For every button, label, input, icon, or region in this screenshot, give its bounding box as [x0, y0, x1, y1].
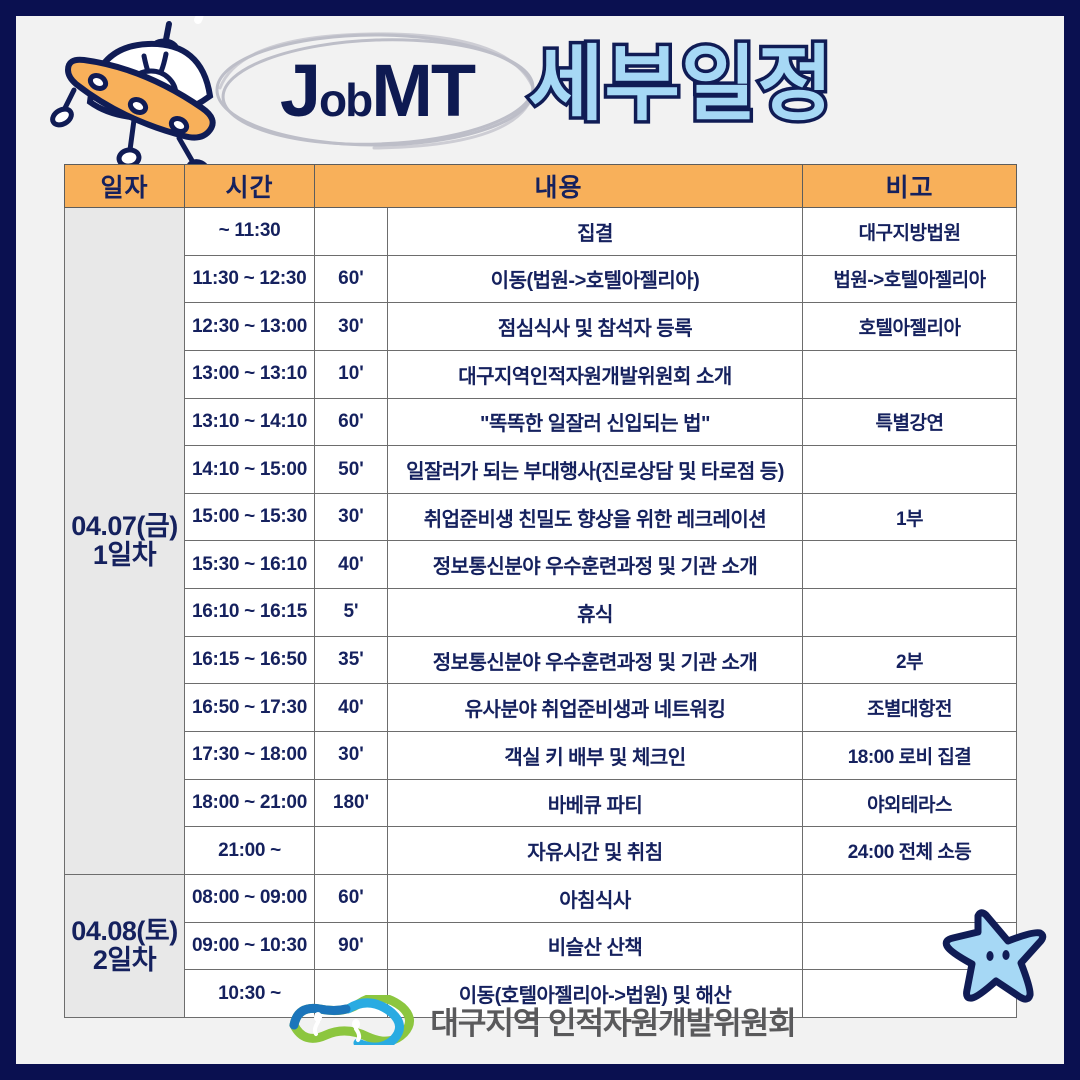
col-header-content: 내용 — [315, 165, 803, 208]
cell-dur: 180' — [315, 779, 388, 827]
cell-content: "똑똑한 일잘러 신입되는 법" — [388, 398, 803, 446]
cell-time: 15:30 ~ 16:10 — [185, 541, 315, 589]
cell-time: 18:00 ~ 21:00 — [185, 779, 315, 827]
cell-time: 09:00 ~ 10:30 — [185, 922, 315, 970]
cell-content: 집결 — [388, 208, 803, 256]
col-header-time: 시간 — [185, 165, 315, 208]
cell-content: 유사분야 취업준비생과 네트워킹 — [388, 684, 803, 732]
date-cell: 04.07(금)1일차 — [65, 208, 185, 875]
cell-time: 17:30 ~ 18:00 — [185, 732, 315, 780]
cell-time: 12:30 ~ 13:00 — [185, 303, 315, 351]
table-row: 16:50 ~ 17:3040'유사분야 취업준비생과 네트워킹조별대항전 — [65, 684, 1017, 732]
logo-letters-mt: MT — [371, 54, 474, 128]
cell-remark: 법원->호텔아젤리아 — [803, 255, 1017, 303]
cell-dur — [315, 827, 388, 875]
cell-content: 이동(법원->호텔아젤리아) — [388, 255, 803, 303]
cell-dur: 60' — [315, 398, 388, 446]
cell-time: 16:10 ~ 16:15 — [185, 589, 315, 637]
poster-header: JobMT 세부일정 — [16, 16, 1064, 164]
table-row: 16:10 ~ 16:155'휴식 — [65, 589, 1017, 637]
table-row: 04.08(토)2일차08:00 ~ 09:0060'아침식사 — [65, 874, 1017, 922]
cell-time: 13:10 ~ 14:10 — [185, 398, 315, 446]
cell-remark: 1부 — [803, 493, 1017, 541]
cell-remark — [803, 541, 1017, 589]
cell-dur: 5' — [315, 589, 388, 637]
cell-time: ~ 11:30 — [185, 208, 315, 256]
logo-letter-j: J — [280, 54, 319, 128]
table-row: 12:30 ~ 13:0030'점심식사 및 참석자 등록호텔아젤리아 — [65, 303, 1017, 351]
ufo-mascot-icon — [46, 16, 236, 178]
col-header-remark: 비고 — [803, 165, 1017, 208]
cell-remark — [803, 589, 1017, 637]
table-row: 18:00 ~ 21:00180'바베큐 파티야외테라스 — [65, 779, 1017, 827]
table-row: 15:30 ~ 16:1040'정보통신분야 우수훈련과정 및 기관 소개 — [65, 541, 1017, 589]
table-row: 11:30 ~ 12:3060'이동(법원->호텔아젤리아)법원->호텔아젤리아 — [65, 255, 1017, 303]
cell-dur: 50' — [315, 446, 388, 494]
infinity-swoosh-logo-icon — [284, 995, 416, 1045]
cell-time: 16:15 ~ 16:50 — [185, 636, 315, 684]
table-row: 13:10 ~ 14:1060'"똑똑한 일잘러 신입되는 법"특별강연 — [65, 398, 1017, 446]
cell-time: 13:00 ~ 13:10 — [185, 350, 315, 398]
table-row: 13:00 ~ 13:1010'대구지역인적자원개발위원회 소개 — [65, 350, 1017, 398]
cell-dur: 10' — [315, 350, 388, 398]
cell-content: 일잘러가 되는 부대행사(진로상담 및 타로점 등) — [388, 446, 803, 494]
schedule-table-body: 04.07(금)1일차~ 11:30집결대구지방법원11:30 ~ 12:306… — [65, 208, 1017, 1018]
cell-time: 16:50 ~ 17:30 — [185, 684, 315, 732]
table-row: 09:00 ~ 10:3090'비슬산 산책 — [65, 922, 1017, 970]
logo-letters-ob: ob — [319, 77, 371, 123]
cell-content: 정보통신분야 우수훈련과정 및 기관 소개 — [388, 541, 803, 589]
table-row: 14:10 ~ 15:0050'일잘러가 되는 부대행사(진로상담 및 타로점 … — [65, 446, 1017, 494]
cell-remark: 18:00 로비 집결 — [803, 732, 1017, 780]
table-row: 15:00 ~ 15:3030'취업준비생 친밀도 향상을 위한 레크레이션1부 — [65, 493, 1017, 541]
cell-dur — [315, 208, 388, 256]
table-row: 21:00 ~자유시간 및 취침24:00 전체 소등 — [65, 827, 1017, 875]
cell-remark: 호텔아젤리아 — [803, 303, 1017, 351]
cell-content: 대구지역인적자원개발위원회 소개 — [388, 350, 803, 398]
cell-content: 자유시간 및 취침 — [388, 827, 803, 875]
poster-frame: JobMT 세부일정 일자 시간 내용 비고 04.07(금)1일차~ 11:3… — [16, 16, 1064, 1064]
cell-remark — [803, 446, 1017, 494]
table-header-row: 일자 시간 내용 비고 — [65, 165, 1017, 208]
cell-remark — [803, 350, 1017, 398]
cell-remark: 2부 — [803, 636, 1017, 684]
cell-content: 객실 키 배부 및 체크인 — [388, 732, 803, 780]
cell-time: 15:00 ~ 15:30 — [185, 493, 315, 541]
cell-content: 점심식사 및 참석자 등록 — [388, 303, 803, 351]
cell-content: 취업준비생 친밀도 향상을 위한 레크레이션 — [388, 493, 803, 541]
footer-org-name: 대구지역 인적자원개발위원회 — [430, 998, 795, 1043]
jobmt-logo-text: JobMT — [212, 30, 542, 152]
cell-content: 비슬산 산책 — [388, 922, 803, 970]
cell-remark: 대구지방법원 — [803, 208, 1017, 256]
footer: 대구지역 인적자원개발위원회 — [16, 992, 1064, 1048]
jobmt-logo: JobMT — [212, 30, 542, 152]
cell-content: 휴식 — [388, 589, 803, 637]
col-header-date: 일자 — [65, 165, 185, 208]
cell-dur: 40' — [315, 684, 388, 732]
table-row: 16:15 ~ 16:5035'정보통신분야 우수훈련과정 및 기관 소개2부 — [65, 636, 1017, 684]
cell-remark: 조별대항전 — [803, 684, 1017, 732]
cell-remark: 특별강연 — [803, 398, 1017, 446]
cell-content: 아침식사 — [388, 874, 803, 922]
cell-time: 21:00 ~ — [185, 827, 315, 875]
cell-time: 11:30 ~ 12:30 — [185, 255, 315, 303]
cell-time: 14:10 ~ 15:00 — [185, 446, 315, 494]
table-row: 04.07(금)1일차~ 11:30집결대구지방법원 — [65, 208, 1017, 256]
cell-remark: 24:00 전체 소등 — [803, 827, 1017, 875]
schedule-table: 일자 시간 내용 비고 04.07(금)1일차~ 11:30집결대구지방법원11… — [64, 164, 1017, 1018]
cell-dur: 30' — [315, 732, 388, 780]
cell-content: 바베큐 파티 — [388, 779, 803, 827]
table-row: 17:30 ~ 18:0030'객실 키 배부 및 체크인18:00 로비 집결 — [65, 732, 1017, 780]
schedule-table-wrap: 일자 시간 내용 비고 04.07(금)1일차~ 11:30집결대구지방법원11… — [64, 164, 1016, 1018]
cell-dur: 30' — [315, 493, 388, 541]
cell-remark: 야외테라스 — [803, 779, 1017, 827]
cell-dur: 90' — [315, 922, 388, 970]
cell-dur: 35' — [315, 636, 388, 684]
cell-time: 08:00 ~ 09:00 — [185, 874, 315, 922]
cell-dur: 30' — [315, 303, 388, 351]
page-title: 세부일정 — [528, 34, 834, 137]
cell-dur: 60' — [315, 255, 388, 303]
cell-content: 정보통신분야 우수훈련과정 및 기관 소개 — [388, 636, 803, 684]
cell-dur: 40' — [315, 541, 388, 589]
cell-dur: 60' — [315, 874, 388, 922]
